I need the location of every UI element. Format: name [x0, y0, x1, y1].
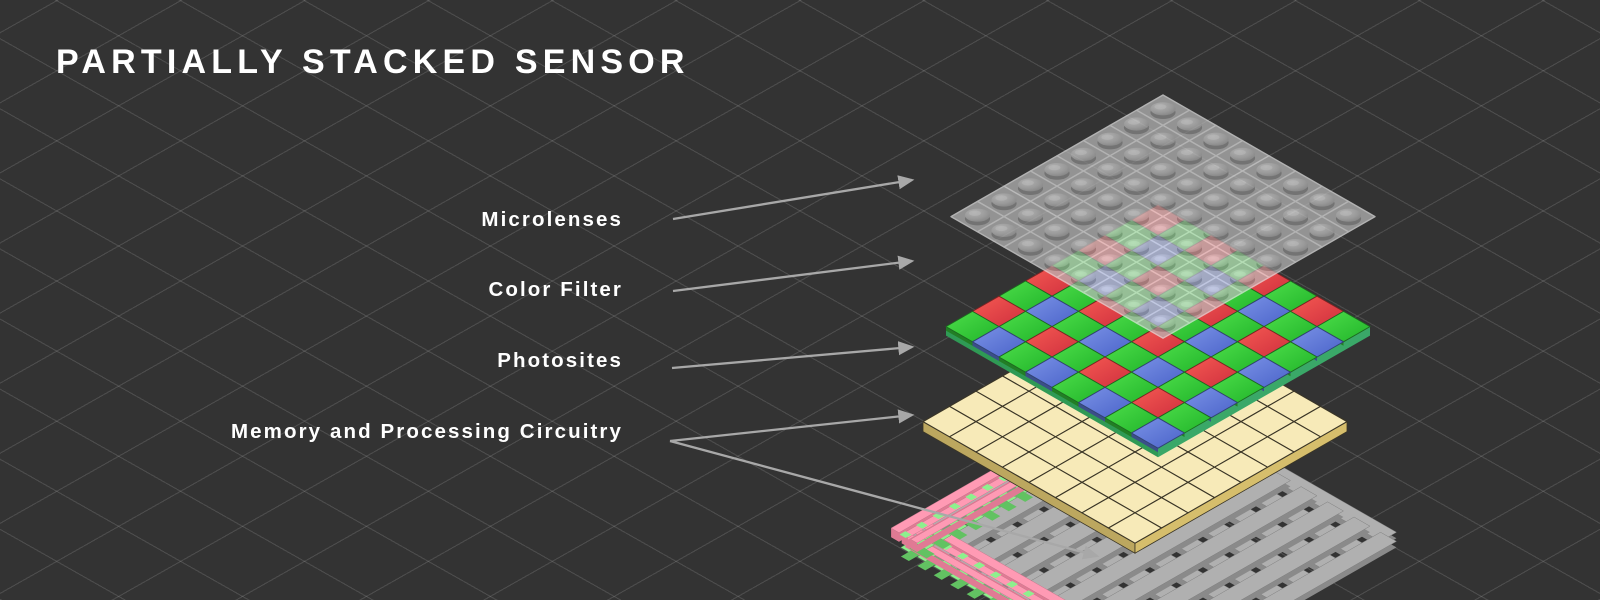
arrow-to-photosites [672, 347, 912, 368]
label-microlenses: Microlenses [481, 207, 623, 233]
label-color-filter: Color Filter [488, 277, 623, 303]
sensor-stack-illustration: circuit [0, 0, 1600, 600]
label-photosites: Photosites [497, 348, 623, 374]
arrow-to-color-filter [673, 261, 912, 291]
arrow-to-circuitry-top [670, 415, 912, 441]
label-memory-and-processing-circuitry: Memory and Processing Circuitry [231, 419, 623, 445]
diagram-canvas: circuit PARTIALLY STACKED SENSOR Microle… [0, 0, 1600, 600]
page-title: PARTIALLY STACKED SENSOR [56, 41, 690, 83]
arrow-to-microlenses [673, 180, 912, 219]
